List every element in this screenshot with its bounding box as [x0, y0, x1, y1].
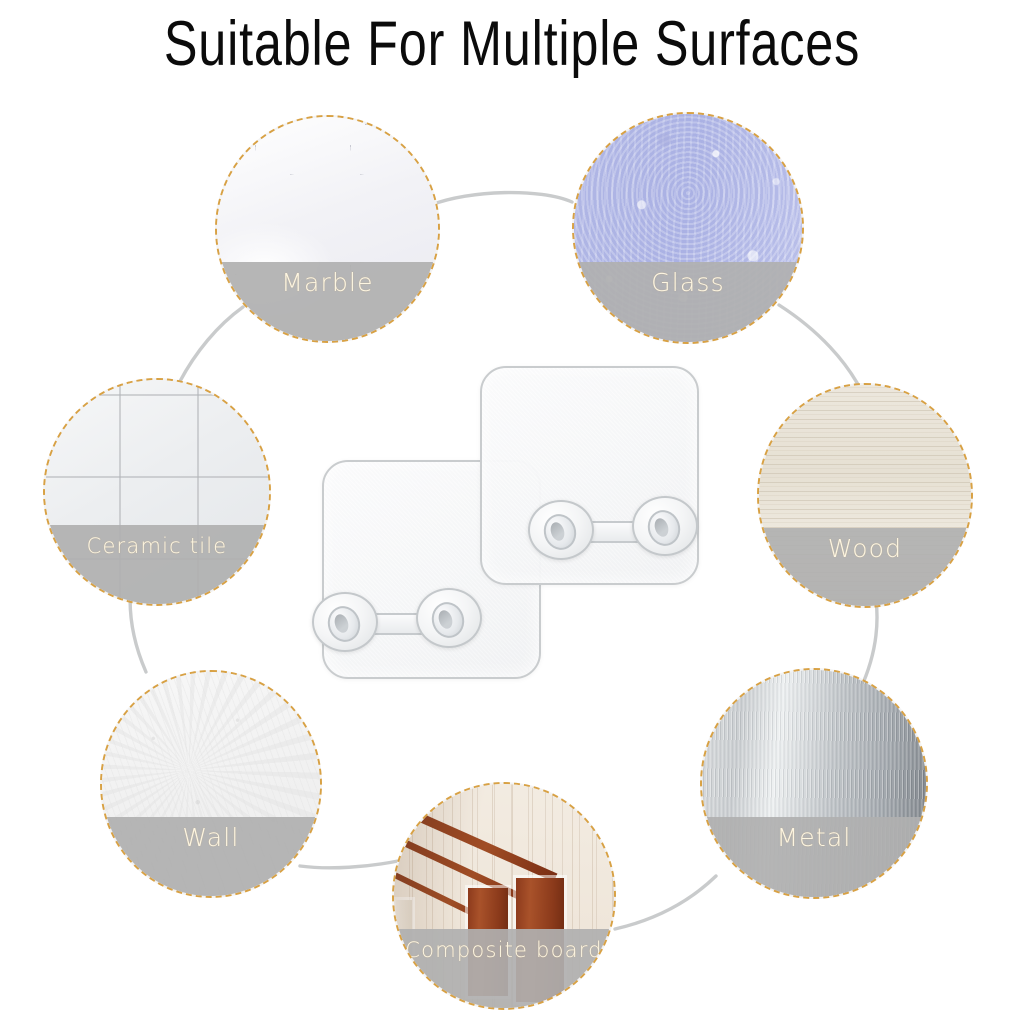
surface-label-ceramic-tile: Ceramic tile [87, 532, 228, 560]
page-title: Suitable For Multiple Surfaces [102, 8, 921, 80]
surface-label-band-marble: Marble [215, 262, 440, 343]
surface-label-band-metal: Metal [700, 817, 928, 899]
surface-circle-marble[interactable]: Marble [215, 115, 440, 343]
surface-label-glass: Glass [651, 269, 725, 297]
connector-wood-metal [860, 600, 877, 690]
connector-metal-composite [615, 876, 716, 929]
hook-knob-back-right [632, 496, 698, 556]
surface-label-band-composite-board: Composite board [392, 929, 616, 1010]
hook-knob-front-right [416, 588, 482, 648]
surface-label-composite-board: Composite board [405, 936, 602, 964]
surface-circle-metal[interactable]: Metal [700, 668, 928, 899]
surface-label-band-wood: Wood [757, 528, 973, 608]
hook-knob-front-left [312, 592, 378, 652]
surface-circle-composite-board[interactable]: Composite board [392, 782, 616, 1010]
surface-label-band-glass: Glass [572, 262, 804, 344]
connector-marble-glass [431, 193, 572, 205]
surface-label-marble: Marble [281, 269, 374, 297]
suitable-surfaces-infographic: Suitable For Multiple Surfaces Marble [0, 0, 1024, 1024]
surface-label-wall: Wall [182, 824, 239, 852]
surface-label-metal: Metal [776, 824, 851, 852]
surface-circle-glass[interactable]: Glass [572, 112, 804, 344]
hook-knob-back-left [528, 500, 594, 560]
product-adhesive-wall-hooks [300, 360, 720, 710]
surface-circle-wall[interactable]: Wall [100, 670, 322, 898]
surface-label-band-wall: Wall [100, 817, 322, 898]
surface-label-band-ceramic-tile: Ceramic tile [43, 525, 271, 606]
surface-circle-ceramic-tile[interactable]: Ceramic tile [43, 378, 271, 606]
surface-circle-wood[interactable]: Wood [757, 383, 973, 608]
surface-label-wood: Wood [828, 535, 903, 563]
